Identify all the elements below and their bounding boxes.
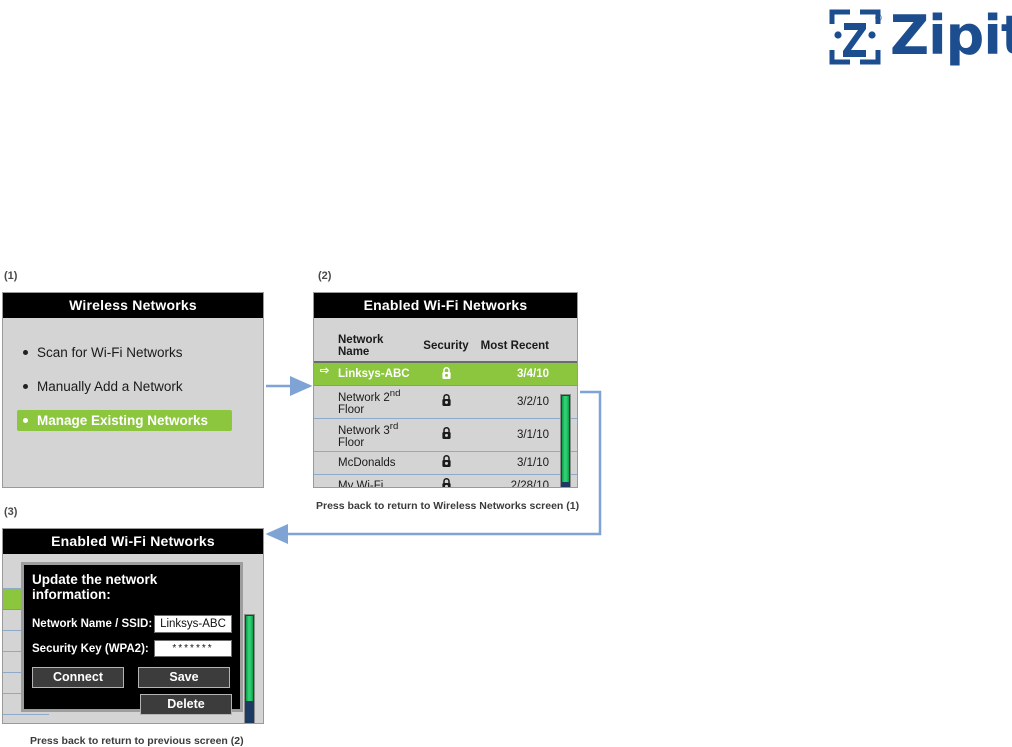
network-name-text: Network 2: [338, 392, 390, 404]
lock-closed-icon: [441, 366, 452, 383]
list-scrollbar[interactable]: [244, 614, 255, 724]
caption-screen2: Press back to return to Wireless Network…: [316, 500, 579, 512]
network-name-text: Linksys-ABC: [338, 368, 410, 380]
screen2-title: Enabled Wi-Fi Networks: [314, 293, 577, 318]
lock-closed-icon: [441, 454, 452, 471]
row-cursor-icon: ⇨: [320, 365, 329, 378]
menu-item-label: Scan for Wi-Fi Networks: [37, 345, 183, 360]
lock-closed-icon: [441, 477, 452, 488]
cell-network-name: McDonalds: [314, 451, 415, 474]
table-row[interactable]: McDonalds 3/1/10: [314, 451, 577, 474]
screen-enabled-wifi-networks-list: Enabled Wi-Fi Networks Network Name Secu…: [313, 292, 578, 488]
lock-closed-icon: [441, 426, 452, 443]
network-name-sup: rd: [390, 421, 399, 432]
table-row[interactable]: Network 3rd Floor 3/1/10: [314, 418, 577, 451]
network-name-sup: nd: [390, 388, 401, 399]
network-name-tail: Floor: [338, 404, 364, 416]
panel-label-3: (3): [4, 506, 17, 518]
menu-item-scan[interactable]: Scan for Wi-Fi Networks: [17, 342, 232, 363]
table-row[interactable]: My Wi-Fi 2/28/10: [314, 474, 577, 488]
network-table: Network Name Security Most Recent ⇨ Link…: [314, 334, 577, 488]
list-scrollbar[interactable]: [560, 394, 571, 488]
cell-network-name: ⇨ Linksys-ABC: [314, 362, 415, 386]
label-security-key: Security Key (WPA2):: [32, 643, 154, 655]
cell-security: [415, 474, 477, 488]
cell-security: [415, 451, 477, 474]
label-network-name: Network Name / SSID:: [32, 618, 154, 630]
lock-closed-icon: [441, 393, 452, 410]
screen1-title: Wireless Networks: [3, 293, 263, 318]
update-network-modal: Update the network information: Network …: [21, 562, 243, 712]
table-header-row: Network Name Security Most Recent: [314, 334, 577, 362]
table-row[interactable]: ⇨ Linksys-ABC 3/4/10: [314, 362, 577, 386]
modal-title: Update the network information:: [32, 572, 232, 602]
bullet-icon: [23, 350, 28, 355]
menu-item-label: Manage Existing Networks: [37, 413, 208, 428]
cell-security: [415, 362, 477, 386]
cell-network-name: Network 3rd Floor: [314, 418, 415, 451]
save-button[interactable]: Save: [138, 667, 230, 688]
cell-network-name: My Wi-Fi: [314, 474, 415, 488]
field-row-ssid: Network Name / SSID:: [32, 615, 232, 633]
table-row[interactable]: Network 2nd Floor 3/2/10: [314, 386, 577, 419]
cell-network-name: Network 2nd Floor: [314, 386, 415, 419]
column-header-network-name: Network Name: [314, 334, 415, 362]
modal-button-row-2: Delete: [32, 694, 232, 715]
caption-screen3: Press back to return to previous screen …: [30, 735, 244, 747]
network-name-tail: Floor: [338, 437, 364, 449]
brand-wordmark: Zipit: [890, 9, 1012, 63]
scrollbar-thumb[interactable]: [562, 396, 569, 482]
connect-button[interactable]: Connect: [32, 667, 124, 688]
panel-label-1: (1): [4, 270, 17, 282]
wireless-networks-menu: Scan for Wi-Fi Networks Manually Add a N…: [3, 318, 263, 431]
menu-item-label: Manually Add a Network: [37, 379, 183, 394]
cell-most-recent: 3/4/10: [477, 362, 577, 386]
modal-button-row-1: Connect Save: [32, 667, 232, 688]
delete-button[interactable]: Delete: [140, 694, 232, 715]
bullet-icon: [23, 384, 28, 389]
screen-update-network-dialog: Enabled Wi-Fi Networks Update the networ…: [2, 528, 264, 724]
svg-text:®: ®: [874, 14, 882, 24]
screen3-title: Enabled Wi-Fi Networks: [3, 529, 263, 554]
column-header-security: Security: [415, 334, 477, 362]
ssid-input[interactable]: [154, 615, 232, 633]
screen-wireless-networks: Wireless Networks Scan for Wi-Fi Network…: [2, 292, 264, 488]
network-name-text: Network 3: [338, 425, 390, 437]
zipit-logo: ® Zipit ®: [828, 8, 1012, 64]
menu-item-manage-existing[interactable]: Manage Existing Networks: [17, 410, 232, 431]
cell-security: [415, 418, 477, 451]
column-header-most-recent: Most Recent: [477, 334, 577, 362]
menu-item-manually-add[interactable]: Manually Add a Network: [17, 376, 232, 397]
scrollbar-thumb[interactable]: [246, 616, 253, 701]
panel-label-2: (2): [318, 270, 331, 282]
field-row-security-key: Security Key (WPA2):: [32, 640, 232, 657]
cell-security: [415, 386, 477, 419]
security-key-input[interactable]: [154, 640, 232, 657]
bullet-icon: [23, 418, 28, 423]
zipit-z-mark-icon: ®: [828, 8, 880, 64]
